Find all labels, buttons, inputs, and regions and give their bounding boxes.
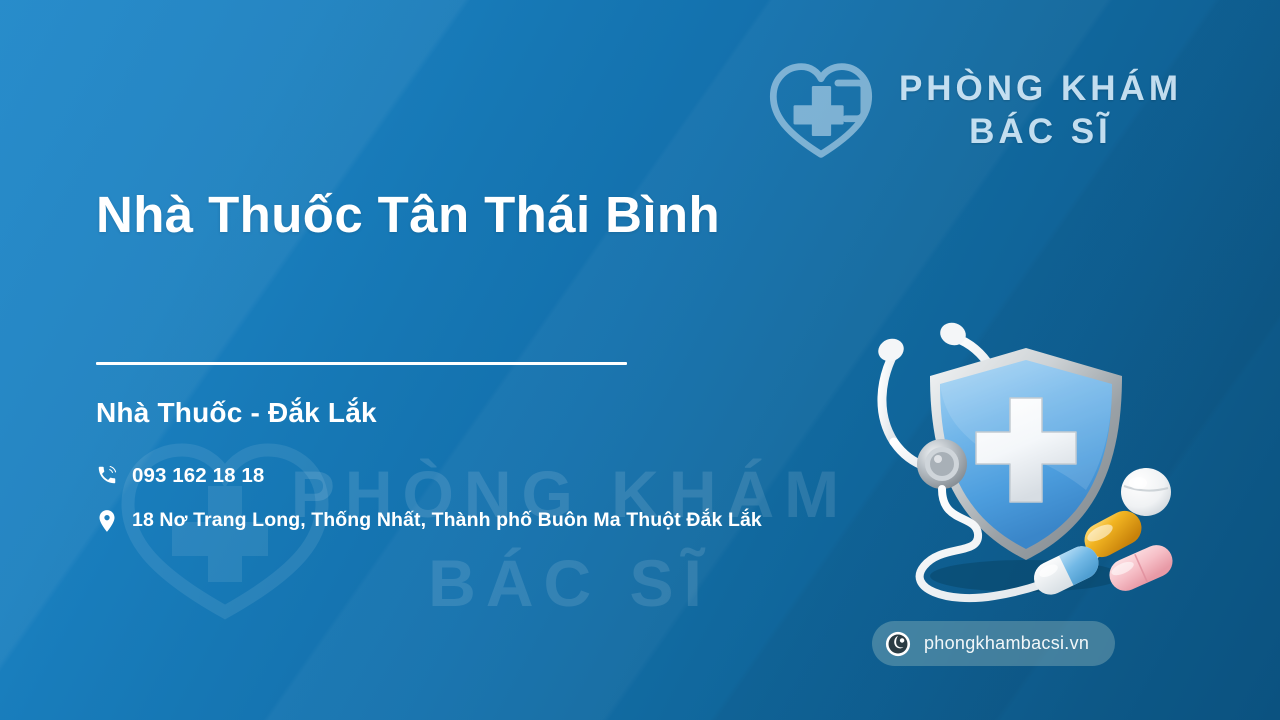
brand-logo: PHÒNG KHÁM BÁC SĨ: [765, 58, 1182, 164]
title-divider: [96, 362, 627, 365]
website-badge[interactable]: phongkhambacsi.vn: [872, 621, 1115, 666]
main-content: Nhà Thuốc Tân Thái Bình Nhà Thuốc - Đắk …: [96, 186, 886, 551]
phone-number: 093 162 18 18: [132, 461, 264, 490]
page-title: Nhà Thuốc Tân Thái Bình: [96, 186, 886, 245]
address-text: 18 Nơ Trang Long, Thống Nhất, Thành phố …: [132, 507, 762, 535]
medical-shield-stethoscope-pills-illustration: [854, 318, 1184, 618]
globe-icon: [885, 631, 911, 657]
location-pin-icon: [96, 508, 118, 534]
watermark-line-2: BÁC SĨ: [260, 539, 880, 628]
brand-line-1: PHÒNG KHÁM: [899, 68, 1182, 111]
website-url: phongkhambacsi.vn: [924, 633, 1089, 654]
contact-list: 093 162 18 18 18 Nơ Trang Long, Thống Nh…: [96, 461, 886, 535]
phone-ringing-icon: [96, 462, 118, 488]
contact-address-row[interactable]: 18 Nơ Trang Long, Thống Nhất, Thành phố …: [96, 507, 886, 535]
brand-line-2: BÁC SĨ: [899, 111, 1182, 154]
medical-heart-cross-icon: [765, 58, 877, 164]
brand-wordmark: PHÒNG KHÁM BÁC SĨ: [899, 68, 1182, 153]
clinic-banner: PHÒNG KHÁM BÁC SĨ PHÒNG KHÁM BÁC SĨ Nhà …: [0, 0, 1280, 720]
page-subtitle: Nhà Thuốc - Đắk Lắk: [96, 397, 886, 429]
contact-phone-row[interactable]: 093 162 18 18: [96, 461, 886, 490]
white-round-tablet: [1121, 468, 1171, 516]
